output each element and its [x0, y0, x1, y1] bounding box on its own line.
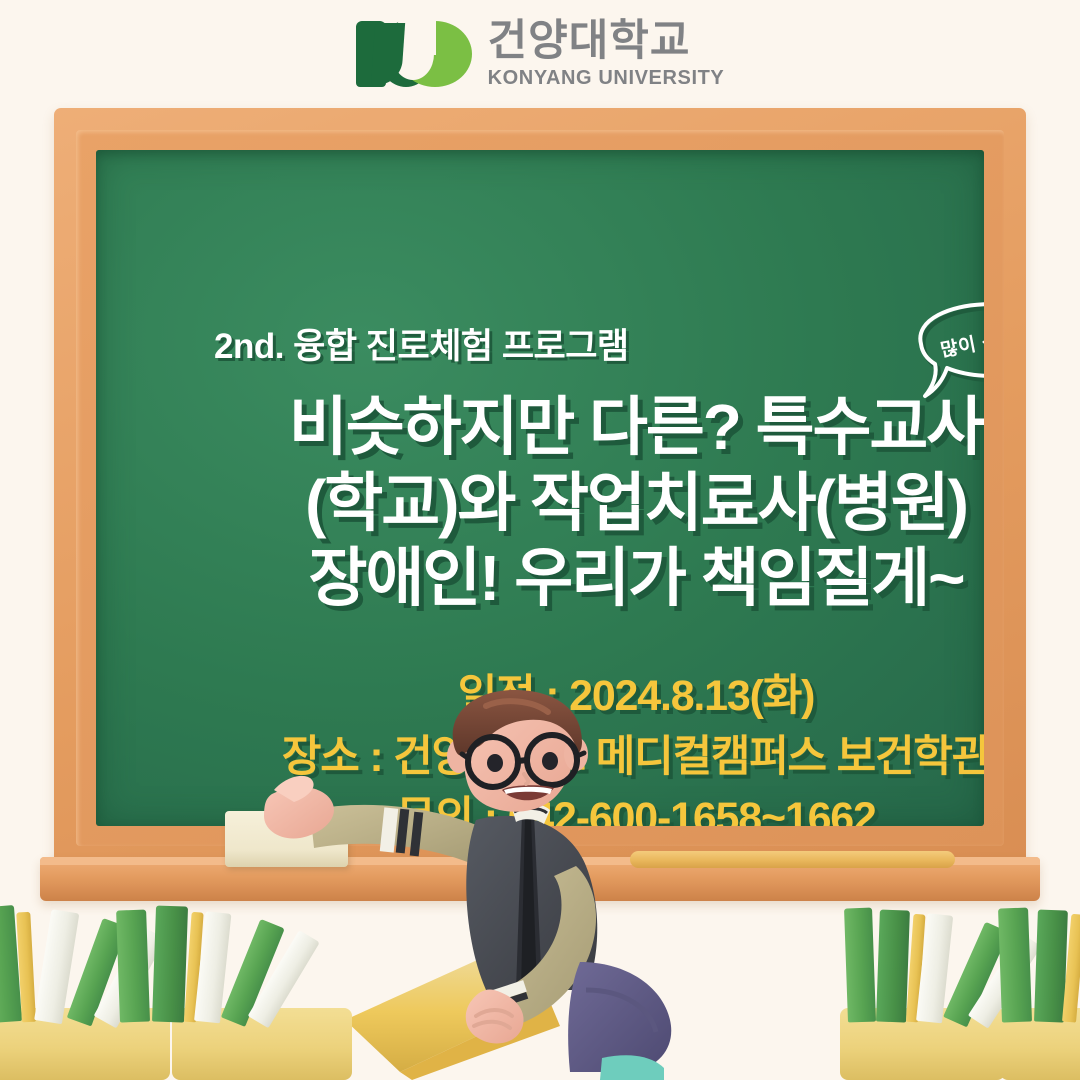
poster-canvas: 건양대학교 KONYANG UNIVERSITY 2nd. 융합 진로체험 프로…: [0, 0, 1080, 1080]
program-kicker: 2nd. 융합 진로체험 프로그램: [214, 318, 629, 369]
headline-line-1: 비슷하지만 다른? 특수교사: [96, 390, 984, 466]
konyang-logo-mark-icon: [356, 19, 474, 89]
character-head: [447, 690, 588, 812]
logo-english-name: KONYANG UNIVERSITY: [488, 68, 725, 88]
book-item: [876, 910, 910, 1023]
speech-bubble-doodle: 많이 신청해줘~: [901, 298, 984, 413]
book-item: [844, 908, 876, 1023]
headline-line-3: 장애인! 우리가 책임질게~: [96, 541, 984, 617]
logo-korean-name: 건양대학교: [488, 20, 725, 63]
book-item: [152, 906, 188, 1023]
university-logo: 건양대학교 KONYANG UNIVERSITY: [0, 10, 1080, 98]
character-left-arm: [264, 776, 488, 866]
headline-block: 비슷하지만 다른? 특수교사 (학교)와 작업치료사(병원) 장애인! 우리가 …: [96, 390, 984, 617]
book-item: [116, 910, 150, 1023]
logo-wordmark: 건양대학교 KONYANG UNIVERSITY: [488, 20, 725, 88]
character-legs: [568, 962, 671, 1080]
headline-line-2: (학교)와 작업치료사(병원): [96, 466, 984, 542]
book-item: [998, 908, 1032, 1023]
